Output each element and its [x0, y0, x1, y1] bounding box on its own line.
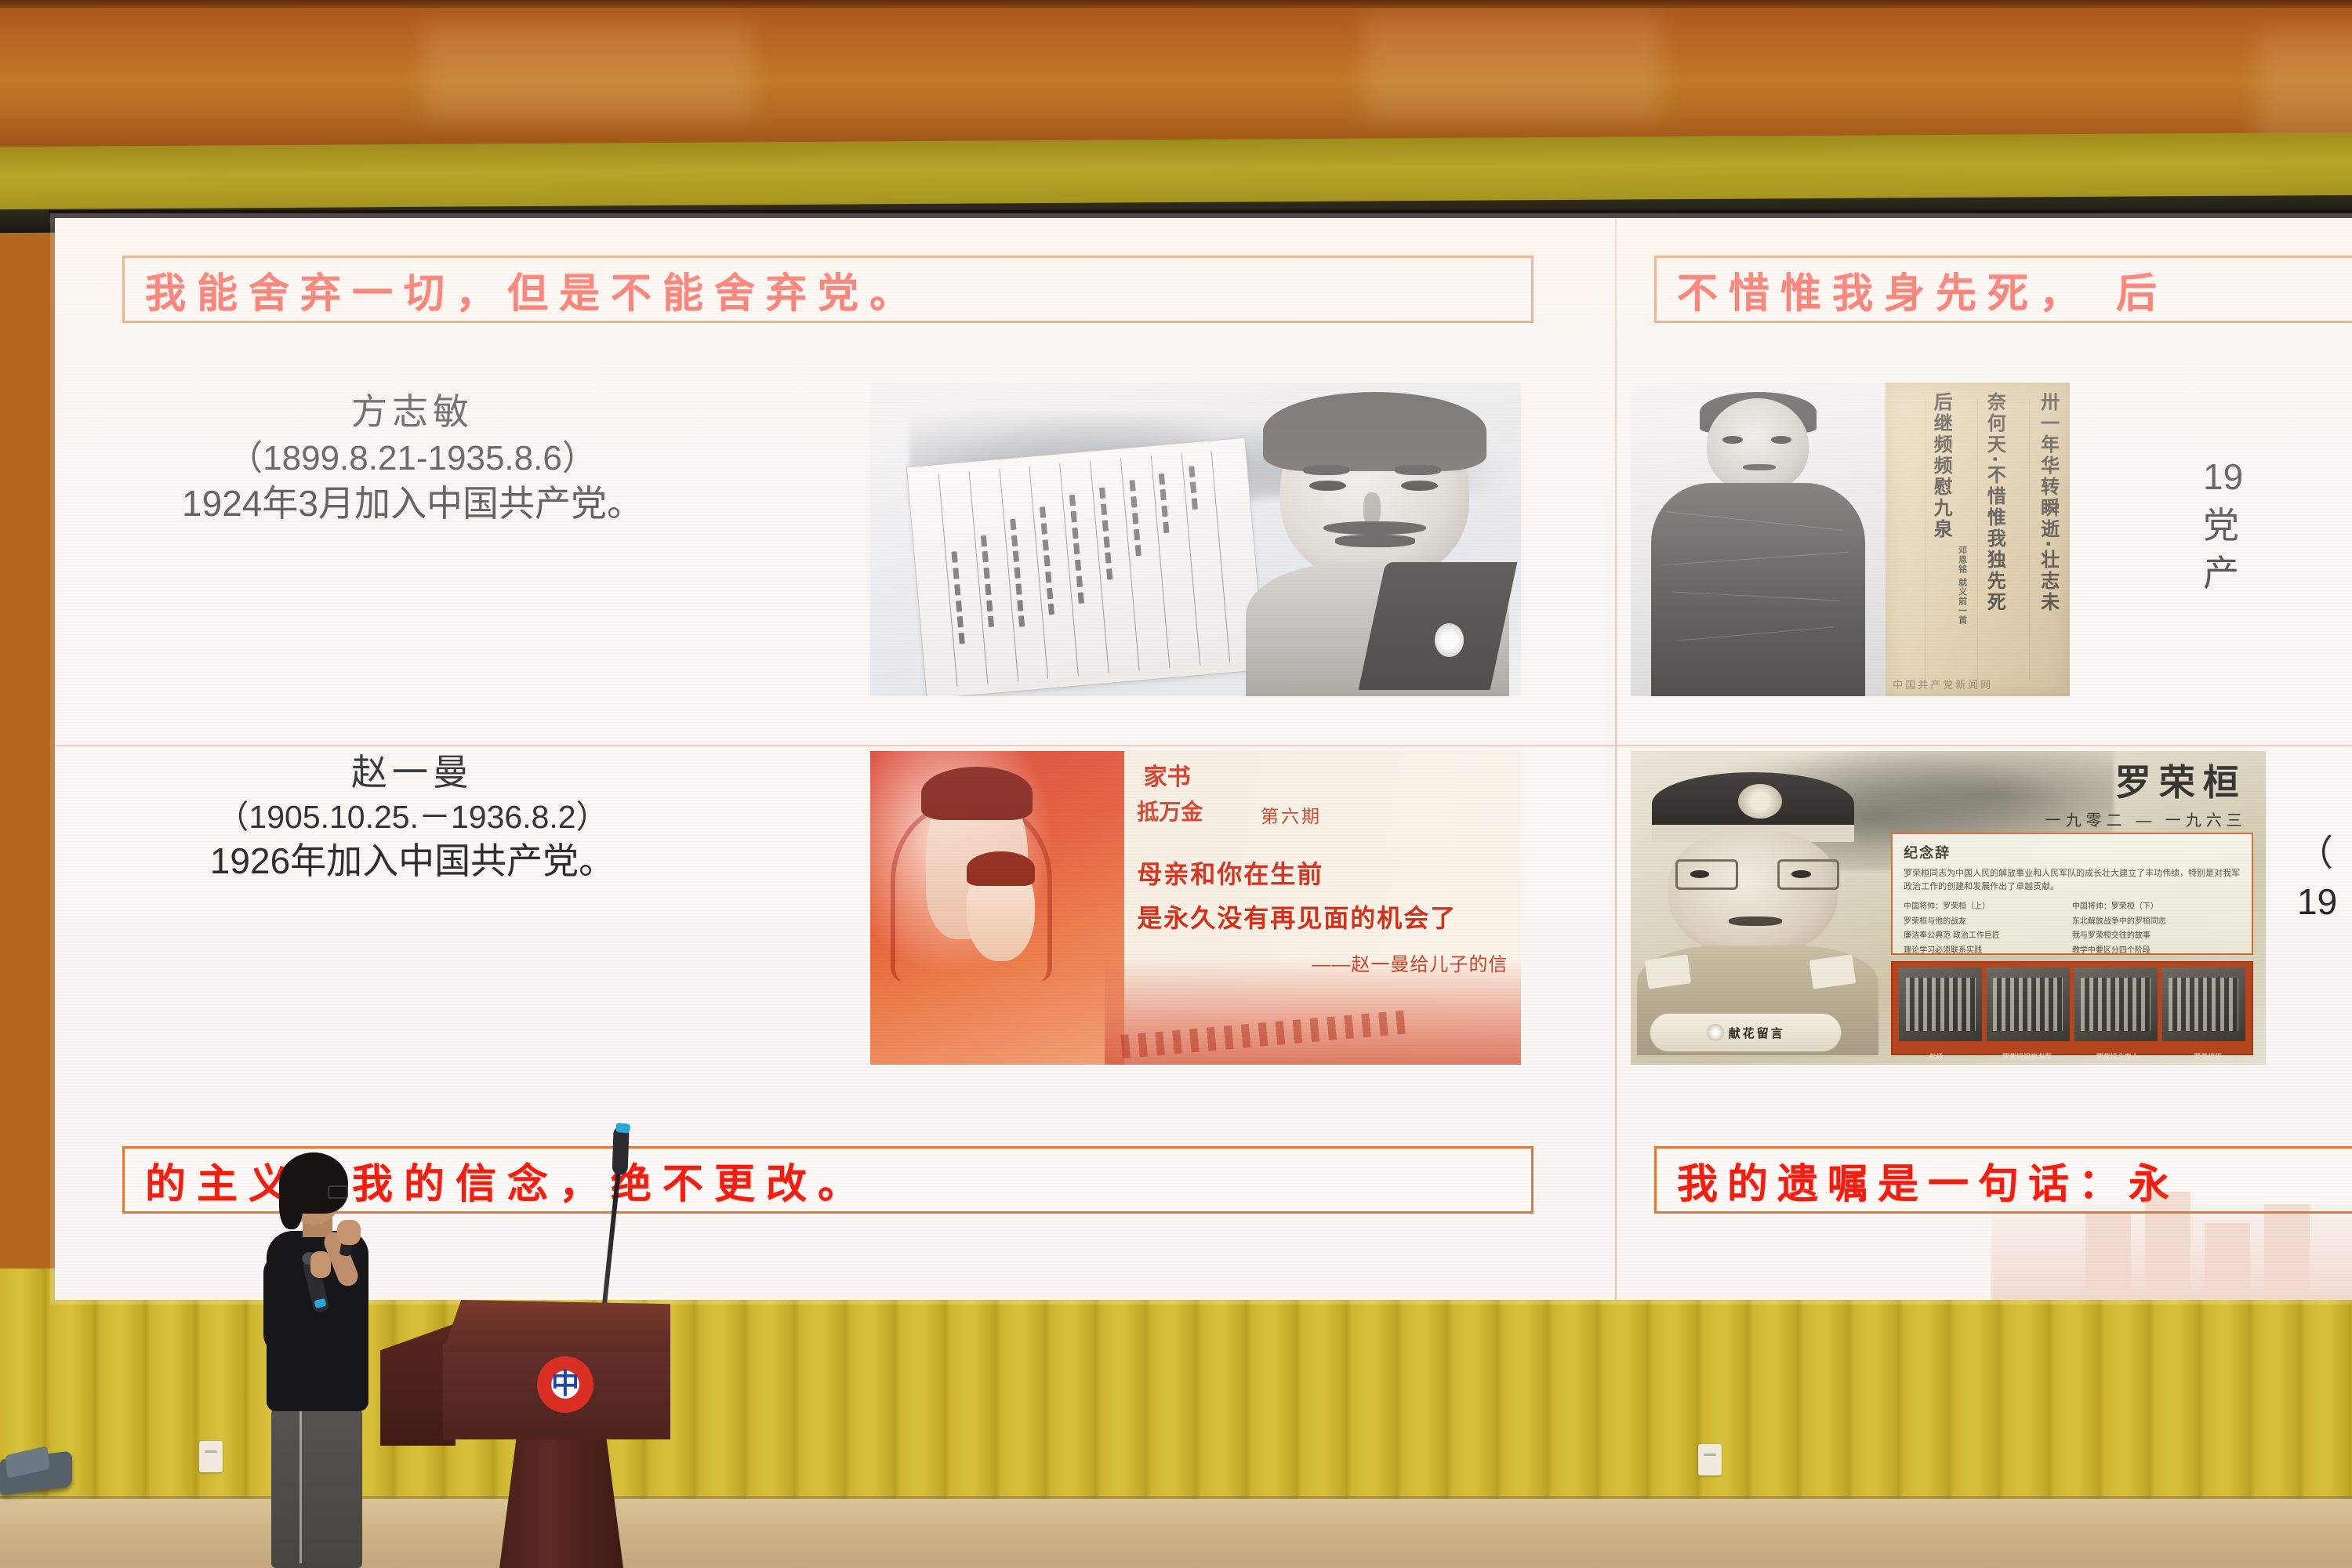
memorial-link-list: 中国将帅：罗荣桓（上） 中国将帅：罗荣桓（下） 罗荣桓与他的战友 东北解放战争中…	[1904, 900, 2241, 958]
emblem-character: 中	[551, 1370, 579, 1399]
fang-zhimin-caption: 方志敏 （1899.8.21-1935.8.6） 1924年3月加入中国共产党。	[83, 389, 742, 528]
offer-flowers-label: 献花留言	[1729, 1025, 1785, 1041]
memorial-heading: 纪念辞	[1904, 842, 2241, 862]
upper-wall	[0, 0, 2352, 147]
scroll-column-1: 卅一年华转瞬逝·壮志未	[2035, 392, 2063, 613]
thumbnail-label: 罗荣桓视察海军	[1982, 1051, 2072, 1062]
fang-zhimin-portrait-manuscript-image	[870, 383, 1521, 696]
right-row1-caption-clipped: 19 党 产	[2203, 453, 2352, 618]
thumbnail[interactable]	[2162, 967, 2245, 1041]
thumbnail-labels: 机场 罗荣桓视察海军 罗荣桓全家人 罗荣桓等	[1891, 1051, 2253, 1062]
offer-flowers-button[interactable]: 献花留言	[1650, 1013, 1842, 1052]
list-item[interactable]: 东北解放战争中的罗桓同志	[2072, 915, 2241, 930]
list-item[interactable]: 教学中要区分四个阶段	[2072, 944, 2241, 959]
stage-floor-monitor-speaker	[0, 1441, 72, 1502]
scroll-watermark: 中国共产党新闻网	[1893, 677, 1993, 691]
list-item[interactable]: 中国将帅：罗荣桓（上）	[1904, 900, 2072, 915]
power-outlet-left[interactable]	[199, 1441, 223, 1472]
thumbnail[interactable]	[2074, 967, 2158, 1041]
luo-ronghuan-memorial-poster: 罗荣桓 一九零二 — 一九六三 纪念辞 罗荣桓同志为中国人民的解放事业和人民军队…	[1631, 751, 2266, 1065]
thumbnail-label: 罗荣桓全家人	[2072, 1051, 2162, 1062]
poster-years: 一九零二 — 一九六三	[2045, 808, 2247, 830]
memorial-text-panel: 纪念辞 罗荣桓同志为中国人民的解放事业和人民军队的成长壮大建立了丰功伟绩，特别是…	[1891, 833, 2253, 955]
zhao-yiman-mother-child-photo	[870, 751, 1124, 1065]
right-top-quote-banner: 不惜惟我身先死， 后	[1654, 256, 2352, 323]
poster-issue-number: 第六期	[1261, 801, 1322, 828]
zhao-yiman-family-letter-poster: 家书 抵万金 第六期 母亲和你在生前 是永久没有再见面的机会了 ——赵一曼给儿子…	[870, 751, 1521, 1065]
left-top-quote-banner: 我能舍弃一切，但是不能舍弃党。	[122, 256, 1534, 323]
thumbnail-label: 机场	[1891, 1051, 1981, 1062]
list-item[interactable]: 理论学习必须联系实践	[1904, 944, 2072, 959]
poster-attribution: ——赵一曼给儿子的信	[1312, 949, 1508, 976]
list-item[interactable]: 廉洁奉公典范 政治工作巨匠	[1904, 929, 2072, 944]
eyeglasses	[328, 1185, 348, 1199]
deng-enming-sketch-scroll-image: 卅一年华转瞬逝·壮志未 奈何天·不惜惟我独先死 后继频频慰九泉 邓恩铭 就义前一…	[1631, 383, 2070, 696]
auditorium-scene: 我能舍弃一切，但是不能舍弃党。 方志敏 （1899.8.21-1935.8.6）…	[0, 0, 2352, 1568]
power-outlet-right[interactable]	[1698, 1444, 1722, 1475]
poster-quote-line-2: 是永久没有再见面的机会了	[1137, 898, 1457, 935]
zhao-yiman-caption: 赵一曼 （1905.10.25.－1936.8.2） 1926年加入中国共产党。	[83, 750, 742, 885]
school-emblem: 中	[537, 1356, 593, 1413]
handwritten-letter	[906, 437, 1265, 696]
memorial-body: 罗荣桓同志为中国人民的解放事业和人民军队的成长壮大建立了丰功伟绩，特别是对我军政…	[1904, 867, 2241, 894]
scroll-column-2: 奈何天·不惜惟我独先死	[1981, 392, 2009, 613]
list-item[interactable]: 罗荣桓与他的战友	[1904, 915, 2072, 930]
deng-enming-sketch	[1631, 383, 1886, 696]
list-item[interactable]: 我与罗荣桓交往的故事	[2072, 929, 2241, 944]
thumbnail-strip	[1891, 961, 2253, 1055]
poster-title: 家书	[1144, 757, 1191, 792]
scroll-signature: 邓恩铭 就义前一首	[1956, 546, 1969, 625]
poster-title: 罗荣桓	[2115, 754, 2247, 806]
projection-screen[interactable]: 我能舍弃一切，但是不能舍弃党。 方志敏 （1899.8.21-1935.8.6）…	[55, 218, 2352, 1300]
right-row2-caption-clipped: （ 19	[2297, 829, 2352, 971]
thumbnail-label: 罗荣桓等	[2162, 1051, 2252, 1062]
poster-quote-line-1: 母亲和你在生前	[1137, 855, 1323, 891]
thumbnail[interactable]	[1987, 967, 2070, 1041]
campus-building-watermark	[1991, 1167, 2352, 1300]
panel-divider-horizontal	[55, 745, 2352, 746]
panel-divider-vertical	[1615, 218, 1617, 1300]
poster-subtitle: 抵万金	[1137, 795, 1203, 826]
fang-zhimin-portrait	[1235, 392, 1521, 696]
podium: 中	[380, 1300, 670, 1568]
luo-ronghuan-portrait	[1637, 767, 1878, 1055]
flower-icon	[1707, 1024, 1724, 1041]
list-item[interactable]: 中国将帅：罗荣桓（下）	[2072, 900, 2241, 915]
scroll-column-3: 后继频频慰九泉	[1928, 392, 1955, 540]
presenter	[259, 1159, 376, 1568]
thumbnail[interactable]	[1899, 967, 1982, 1041]
calligraphy-scroll: 卅一年华转瞬逝·壮志未 奈何天·不惜惟我独先死 后继频频慰九泉 邓恩铭 就义前一…	[1886, 383, 2070, 696]
